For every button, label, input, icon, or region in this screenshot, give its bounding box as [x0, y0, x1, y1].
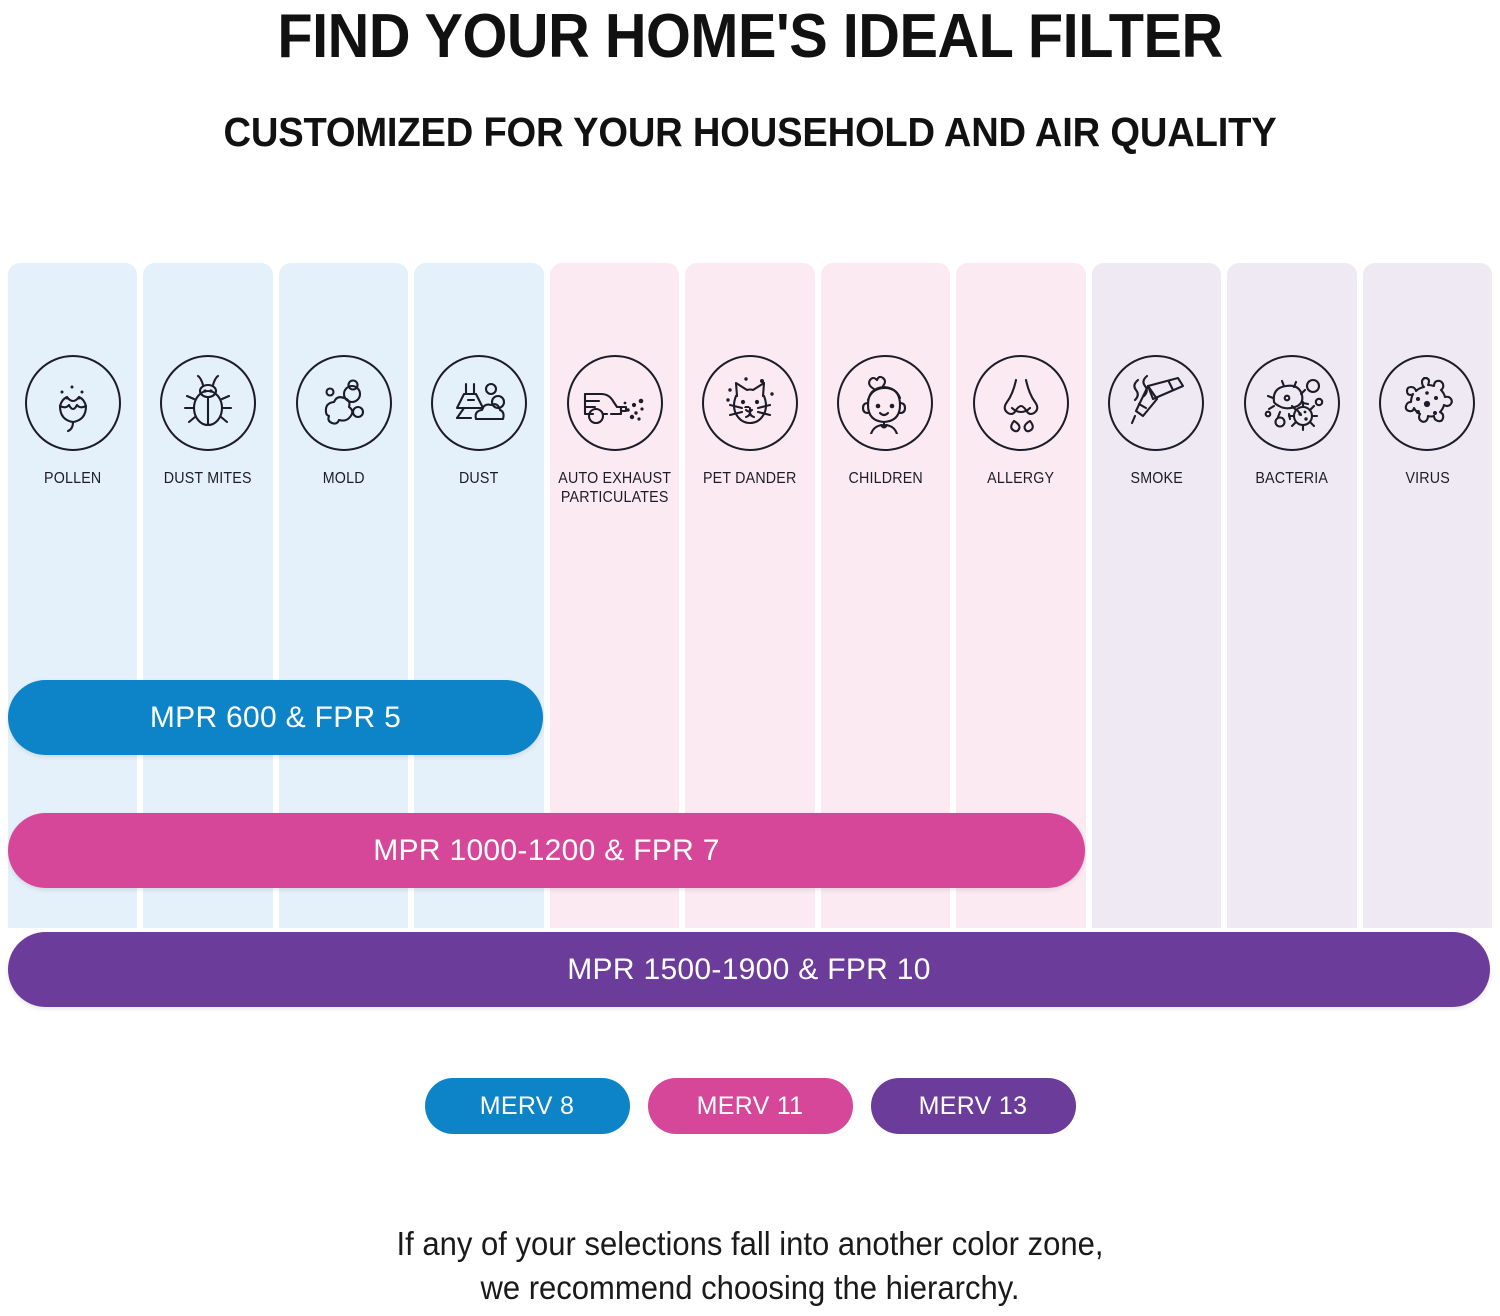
- footer-line-1: If any of your selections fall into anot…: [45, 1222, 1455, 1266]
- pollen-flower-icon: [25, 355, 121, 451]
- contaminant-column-smoke[interactable]: SMOKE: [1092, 263, 1221, 928]
- infographic-root: FIND YOUR HOME'S IDEAL FILTER CUSTOMIZED…: [0, 0, 1500, 1316]
- dust-broom-icon: [431, 355, 527, 451]
- merv-legend: MERV 8MERV 11MERV 13: [0, 1078, 1500, 1134]
- bacteria-microbe-icon: [1244, 355, 1340, 451]
- cat-face-icon: [702, 355, 798, 451]
- virus-icon: [1379, 355, 1475, 451]
- contaminant-label: BACTERIA: [1232, 469, 1351, 488]
- contaminant-column-virus[interactable]: VIRUS: [1363, 263, 1492, 928]
- page-title: FIND YOUR HOME'S IDEAL FILTER: [53, 6, 1448, 68]
- filter-bar-mpr1500[interactable]: MPR 1500-1900 & FPR 10: [8, 932, 1490, 1007]
- car-exhaust-icon: [567, 355, 663, 451]
- merv-pill-13[interactable]: MERV 13: [871, 1078, 1076, 1134]
- filter-bar-mpr1000[interactable]: MPR 1000-1200 & FPR 7: [8, 813, 1085, 888]
- footer-line-2: we recommend choosing the hierarchy.: [45, 1266, 1455, 1310]
- merv-pill-8[interactable]: MERV 8: [425, 1078, 630, 1134]
- contaminant-label: MOLD: [284, 469, 403, 488]
- contaminant-label: AUTO EXHAUST PARTICULATES: [555, 469, 674, 507]
- merv-pill-11[interactable]: MERV 11: [648, 1078, 853, 1134]
- contaminant-label: DUST: [420, 469, 539, 488]
- contaminant-label: DUST MITES: [149, 469, 268, 488]
- contaminant-label: VIRUS: [1368, 469, 1487, 488]
- contaminant-label: SMOKE: [1097, 469, 1216, 488]
- contaminant-label: PET DANDER: [690, 469, 809, 488]
- contaminant-label: CHILDREN: [826, 469, 945, 488]
- footer-note: If any of your selections fall into anot…: [45, 1222, 1455, 1310]
- cigarette-smoke-icon: [1108, 355, 1204, 451]
- runny-nose-icon: [973, 355, 1069, 451]
- filter-bar-mpr600[interactable]: MPR 600 & FPR 5: [8, 680, 543, 755]
- dust-mite-bug-icon: [160, 355, 256, 451]
- contaminant-label: POLLEN: [13, 469, 132, 488]
- mold-spores-icon: [296, 355, 392, 451]
- page-subtitle: CUSTOMIZED FOR YOUR HOUSEHOLD AND AIR QU…: [53, 112, 1448, 153]
- child-face-icon: [837, 355, 933, 451]
- contaminant-column-bacteria[interactable]: BACTERIA: [1227, 263, 1356, 928]
- contaminant-label: ALLERGY: [961, 469, 1080, 488]
